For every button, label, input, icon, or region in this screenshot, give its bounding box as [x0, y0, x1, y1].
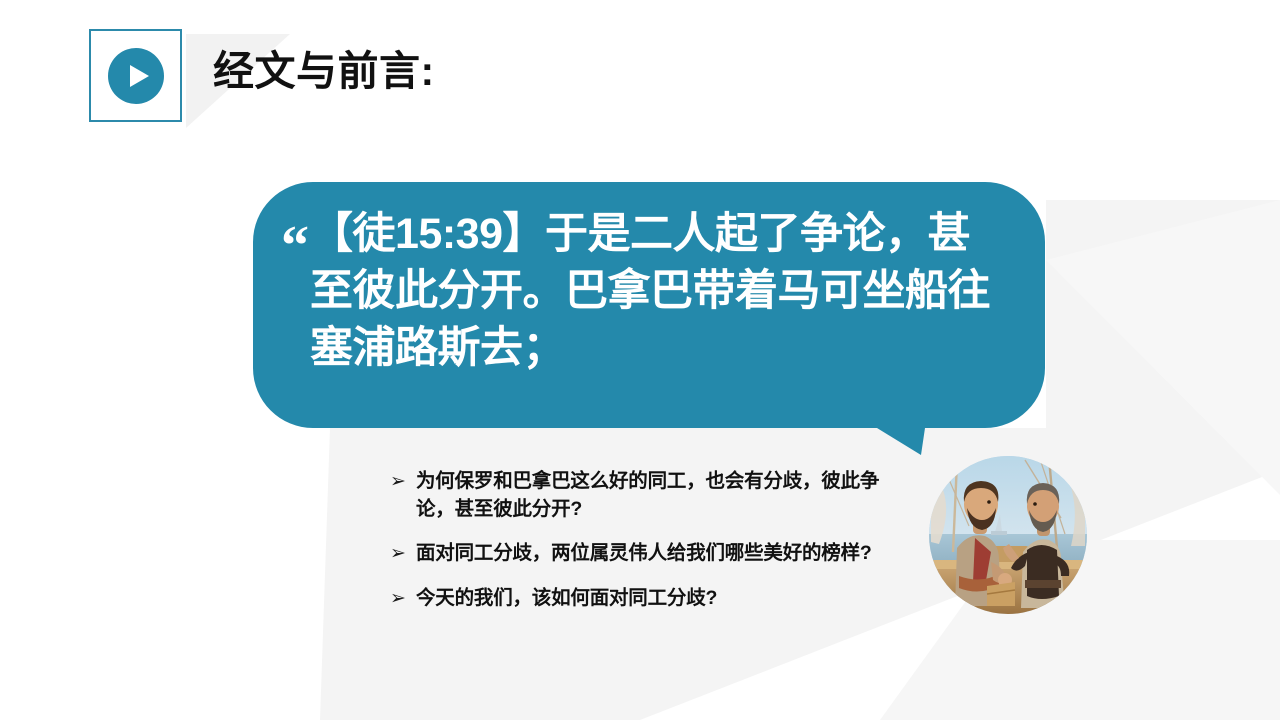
list-item: ➢ 为何保罗和巴拿巴这么好的同工，也会有分歧，彼此争论，甚至彼此分开? [390, 468, 900, 523]
quote-bubble: “ 【徒15:39】于是二人起了争论，甚至彼此分开。巴拿巴带着马可坐船往塞浦路斯… [253, 182, 1053, 462]
question-text-1: 为何保罗和巴拿巴这么好的同工，也会有分歧，彼此争论，甚至彼此分开? [416, 468, 900, 523]
play-button-icon[interactable] [108, 48, 164, 104]
arrow-bullet-icon: ➢ [390, 468, 416, 495]
arrow-bullet-icon: ➢ [390, 540, 416, 567]
slide-header: 经文与前言: [0, 0, 1280, 150]
play-triangle-icon [130, 65, 149, 87]
two-men-conversing-on-ship-photo [929, 456, 1087, 614]
play-button-badge[interactable] [89, 29, 186, 126]
slide-canvas: 经文与前言: “ 【徒15:39】于是二人起了争论，甚至彼此分开。巴拿巴带着马可… [0, 0, 1280, 720]
arrow-bullet-icon: ➢ [390, 585, 416, 612]
question-text-2: 面对同工分歧，两位属灵伟人给我们哪些美好的榜样? [416, 540, 900, 568]
page-title: 经文与前言: [213, 49, 435, 94]
list-item: ➢ 面对同工分歧，两位属灵伟人给我们哪些美好的榜样? [390, 540, 900, 568]
photo-illustration [929, 456, 1087, 614]
quote-bubble-content: “ 【徒15:39】于是二人起了争论，甚至彼此分开。巴拿巴带着马可坐船往塞浦路斯… [253, 182, 1045, 428]
open-quote-icon: “ [281, 218, 306, 274]
quote-text: 【徒15:39】于是二人起了争论，甚至彼此分开。巴拿巴带着马可坐船往塞浦路斯去； [310, 206, 1001, 376]
question-list: ➢ 为何保罗和巴拿巴这么好的同工，也会有分歧，彼此争论，甚至彼此分开? ➢ 面对… [390, 468, 900, 613]
list-item: ➢ 今天的我们，该如何面对同工分歧? [390, 585, 900, 613]
question-text-3: 今天的我们，该如何面对同工分歧? [416, 585, 900, 613]
